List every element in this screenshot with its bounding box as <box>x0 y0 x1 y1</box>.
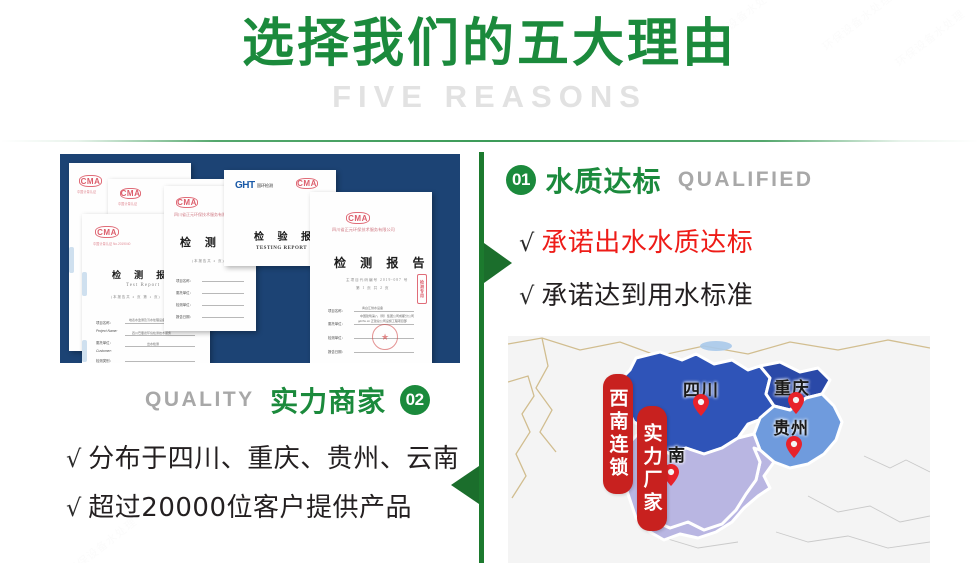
section-title-en: QUALIFIED <box>678 168 814 191</box>
cma-stamp-icon: CMA <box>296 178 318 189</box>
check-icon: √ <box>519 282 534 310</box>
check-icon: √ <box>66 445 81 473</box>
map-panel: 四川 重庆 贵州 云南 <box>508 336 930 563</box>
section-number-badge: 02 <box>400 385 430 415</box>
banner-strong-factory: 实力厂家 <box>637 406 667 531</box>
cma-stamp-icon: CMA <box>176 197 198 208</box>
promo-poster: 环保设备水处理 环保设备水处理 环保设备水处理 环保设备水处理 选择我们的五大理… <box>0 0 979 563</box>
bullet-text: 超过20000位客户提供产品 <box>88 487 412 524</box>
bullet-text: 承诺达到用水标准 <box>541 275 753 312</box>
doc-subtitle: Test Report <box>126 283 160 288</box>
map-pin-icon <box>693 394 709 416</box>
lab-logo-sub: 国环检测 <box>257 183 273 189</box>
section-01-bullets: √ 承诺出水水质达标 √ 承诺达到用水标准 <box>519 222 753 328</box>
cma-stamp-icon: CMA <box>95 226 119 238</box>
map-lake <box>700 341 732 351</box>
certificate-collage: CMA 中国计量认证 检 测 报 告 Test Report (本报告共 2 页… <box>60 154 460 363</box>
bullet-text: 承诺出水水质达标 <box>541 222 753 259</box>
china-map-svg <box>508 336 930 563</box>
bullet-item: √ 承诺达到用水标准 <box>519 275 753 312</box>
vertical-stamp-icon: 检测专用 <box>417 274 427 304</box>
page-title-cn: 选择我们的五大理由 <box>0 14 979 75</box>
map-pin-icon <box>788 392 804 414</box>
doc-subtitle: TESTING REPORT <box>256 246 307 251</box>
page-title-en: FIVE REASONS <box>0 79 979 115</box>
section-title-cn: 水质达标 <box>545 165 661 198</box>
vertical-divider <box>479 152 484 563</box>
bullet-item: √ 超过20000位客户提供产品 <box>66 487 459 524</box>
bullet-text: 分布于四川、重庆、贵州、云南 <box>88 438 459 475</box>
bullet-item: √ 分布于四川、重庆、贵州、云南 <box>66 438 459 475</box>
check-icon: √ <box>66 494 81 522</box>
check-icon: √ <box>519 229 534 257</box>
horizontal-divider <box>0 140 979 142</box>
cma-stamp-icon: CMA <box>120 188 141 199</box>
section-02-bullets: √ 分布于四川、重庆、贵州、云南 √ 超过20000位客户提供产品 <box>66 438 459 536</box>
section-number-badge: 01 <box>506 165 536 195</box>
map-pin-icon <box>786 436 802 458</box>
cma-stamp-icon: CMA <box>79 175 102 187</box>
cma-stamp-icon: CMA <box>346 212 370 224</box>
section-title-en: QUALITY <box>145 388 255 411</box>
section-01-heading: 01 水质达标 QUALIFIED <box>506 160 814 200</box>
bullet-item: √ 承诺出水水质达标 <box>519 222 753 259</box>
page-header: 选择我们的五大理由 FIVE REASONS <box>0 14 979 115</box>
official-seal-icon: ★ <box>372 324 398 350</box>
arrow-right-icon <box>484 243 512 283</box>
certificate-doc: CMA 四川省正元环保技术服务有限公司 检 测 报 告 主项目代码编号 2019… <box>310 192 432 363</box>
lab-logo: GHT <box>235 180 255 191</box>
section-title-cn: 实力商家 <box>270 385 386 418</box>
doc-title: 检 测 报 告 <box>334 254 430 271</box>
banner-southwest-chain: 西南连锁 <box>603 374 633 494</box>
section-02-heading: QUALITY 实力商家 02 <box>145 380 430 420</box>
